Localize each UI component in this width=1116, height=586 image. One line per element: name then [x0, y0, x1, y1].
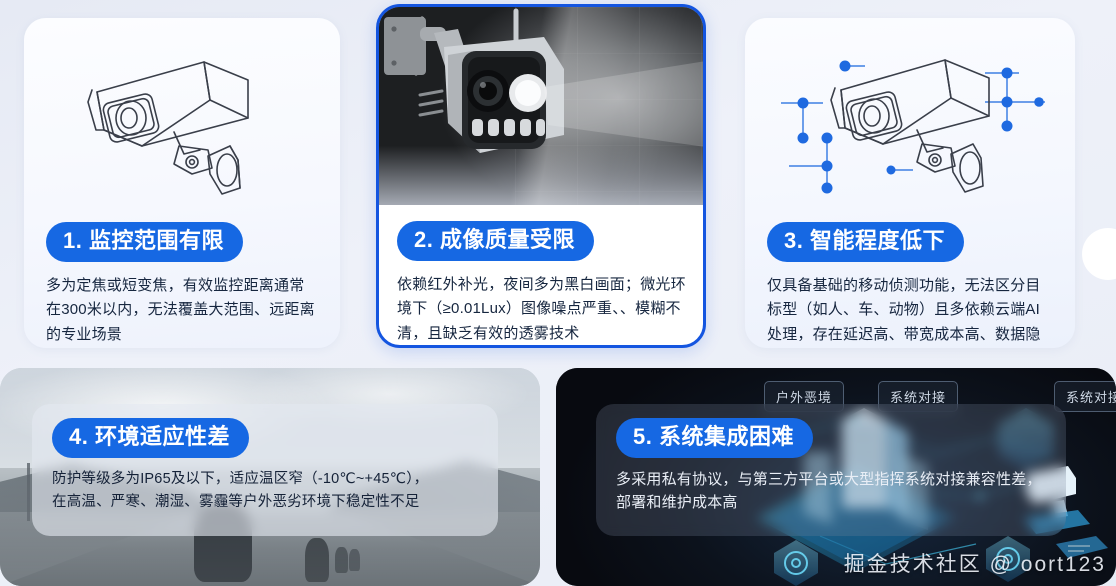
camera-photo-shapes: [379, 7, 703, 205]
camera-network-illustration: [745, 18, 1075, 204]
card-image-quality[interactable]: 2. 成像质量受限 依赖红外补光，夜间多为黑白画面；微光环境下（≥0.01Lux…: [376, 4, 706, 348]
card-environment-adaptability[interactable]: 4. 环境适应性差 防护等级多为IP65及以下，适应温区窄（-10℃~+45℃）…: [0, 368, 540, 586]
card-badge: 4. 环境适应性差: [52, 418, 249, 458]
card-badge: 5. 系统集成困难: [616, 418, 813, 458]
card-badge: 3. 智能程度低下: [767, 222, 964, 262]
card-monitoring-range[interactable]: 1. 监控范围有限 多为定焦或短变焦，有效监控距离通常在300米以内，无法覆盖大…: [24, 18, 340, 348]
camera-line-art-illustration: [24, 18, 340, 204]
card-body-line-2: 在高温、严寒、潮湿、雾霾等户外恶劣环境下稳定性不足: [52, 491, 484, 513]
card-badge: 1. 监控范围有限: [46, 222, 243, 262]
badge-container: 2. 成像质量受限: [379, 205, 703, 261]
poster-stage: 1. 监控范围有限 多为定焦或短变焦，有效监控距离通常在300米以内，无法覆盖大…: [0, 0, 1116, 586]
card-body-text: 多为定焦或短变焦，有效监控距离通常在300米以内，无法覆盖大范围、远距离的专业场…: [24, 262, 340, 347]
badge-container: 5. 系统集成困难: [596, 404, 1066, 458]
card-badge: 2. 成像质量受限: [397, 221, 594, 261]
card5-text-panel: 5. 系统集成困难 多采用私有协议，与第三方平台或大型指挥系统对接兼容性差，部署…: [596, 404, 1066, 536]
badge-container: 1. 监控范围有限: [24, 204, 340, 262]
badge-container: 4. 环境适应性差: [32, 404, 498, 458]
card-body-line-1: 防护等级多为IP65及以下，适应温区窄（-10℃~+45℃），: [52, 468, 484, 490]
card-body-text: 防护等级多为IP65及以下，适应温区窄（-10℃~+45℃）， 在高温、严寒、潮…: [32, 458, 498, 513]
card-body-text: 依赖红外补光，夜间多为黑白画面；微光环境下（≥0.01Lux）图像噪点严重、、模…: [379, 261, 703, 346]
card-body-text: 多采用私有协议，与第三方平台或大型指挥系统对接兼容性差，部署和维护成本高: [596, 458, 1066, 515]
card-body-text: 仅具备基础的移动侦测功能，无法区分目标型（如人、车、动物）且多依赖云端AI处理，…: [745, 262, 1075, 348]
badge-container: 3. 智能程度低下: [745, 204, 1075, 262]
card-low-intelligence[interactable]: 3. 智能程度低下 仅具备基础的移动侦测功能，无法区分目标型（如人、车、动物）且…: [745, 18, 1075, 348]
watermark-text: 掘金技术社区 @ oort123: [844, 548, 1106, 578]
card4-text-panel: 4. 环境适应性差 防护等级多为IP65及以下，适应温区窄（-10℃~+45℃）…: [32, 404, 498, 536]
ir-camera-photo: [379, 7, 703, 205]
top-card-row: 1. 监控范围有限 多为定焦或短变焦，有效监控距离通常在300米以内，无法覆盖大…: [0, 0, 1116, 360]
card-system-integration[interactable]: 户外恶境 系统对接 系统对接 5. 系统集成困难 多采用私有协议，与第三方平台或…: [556, 368, 1116, 586]
bottom-card-row: 4. 环境适应性差 防护等级多为IP65及以下，适应温区窄（-10℃~+45℃）…: [0, 368, 1116, 586]
